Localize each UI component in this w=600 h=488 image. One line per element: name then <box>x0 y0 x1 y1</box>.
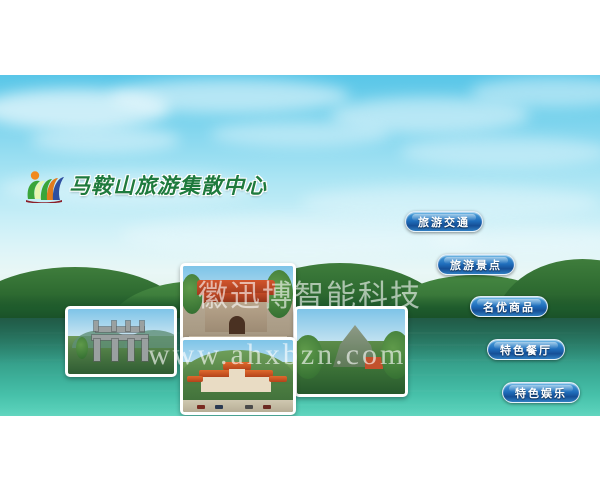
menu-button-famous-goods[interactable]: 名优商品 <box>470 296 548 317</box>
menu-button-specialty-entertainment[interactable]: 特色娱乐 <box>502 382 580 403</box>
menu-button-tourist-attractions[interactable]: 旅游景点 <box>437 254 515 275</box>
main-menu: 旅游交通 旅游景点 名优商品 特色餐厅 特色娱乐 星级酒店 <box>0 75 600 416</box>
scenic-background: 马鞍山旅游集散中心 <box>0 75 600 416</box>
menu-button-tourism-transport[interactable]: 旅游交通 <box>405 211 483 232</box>
menu-button-specialty-restaurants[interactable]: 特色餐厅 <box>487 339 565 360</box>
kiosk-home-screen: 马鞍山旅游集散中心 <box>0 0 600 488</box>
